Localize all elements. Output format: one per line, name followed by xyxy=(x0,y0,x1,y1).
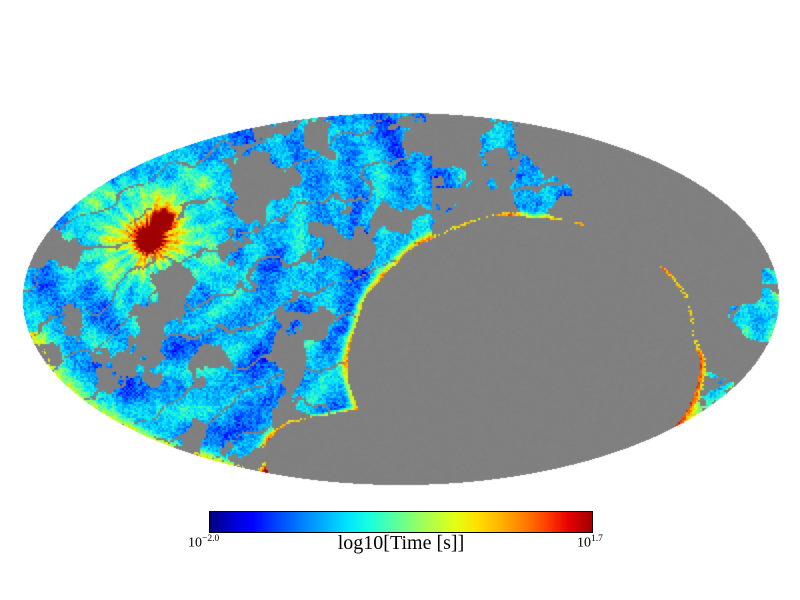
colorbar xyxy=(209,511,593,533)
colorbar-gradient xyxy=(209,511,593,533)
figure-canvas: Total integration time = 43040 seconds =… xyxy=(0,0,800,600)
colorbar-min-mantissa: 10 xyxy=(188,536,202,551)
mollweide-sky-map xyxy=(0,0,800,510)
colorbar-title: log10[Time [s]] xyxy=(209,532,593,555)
sky-map-panel xyxy=(0,0,800,510)
